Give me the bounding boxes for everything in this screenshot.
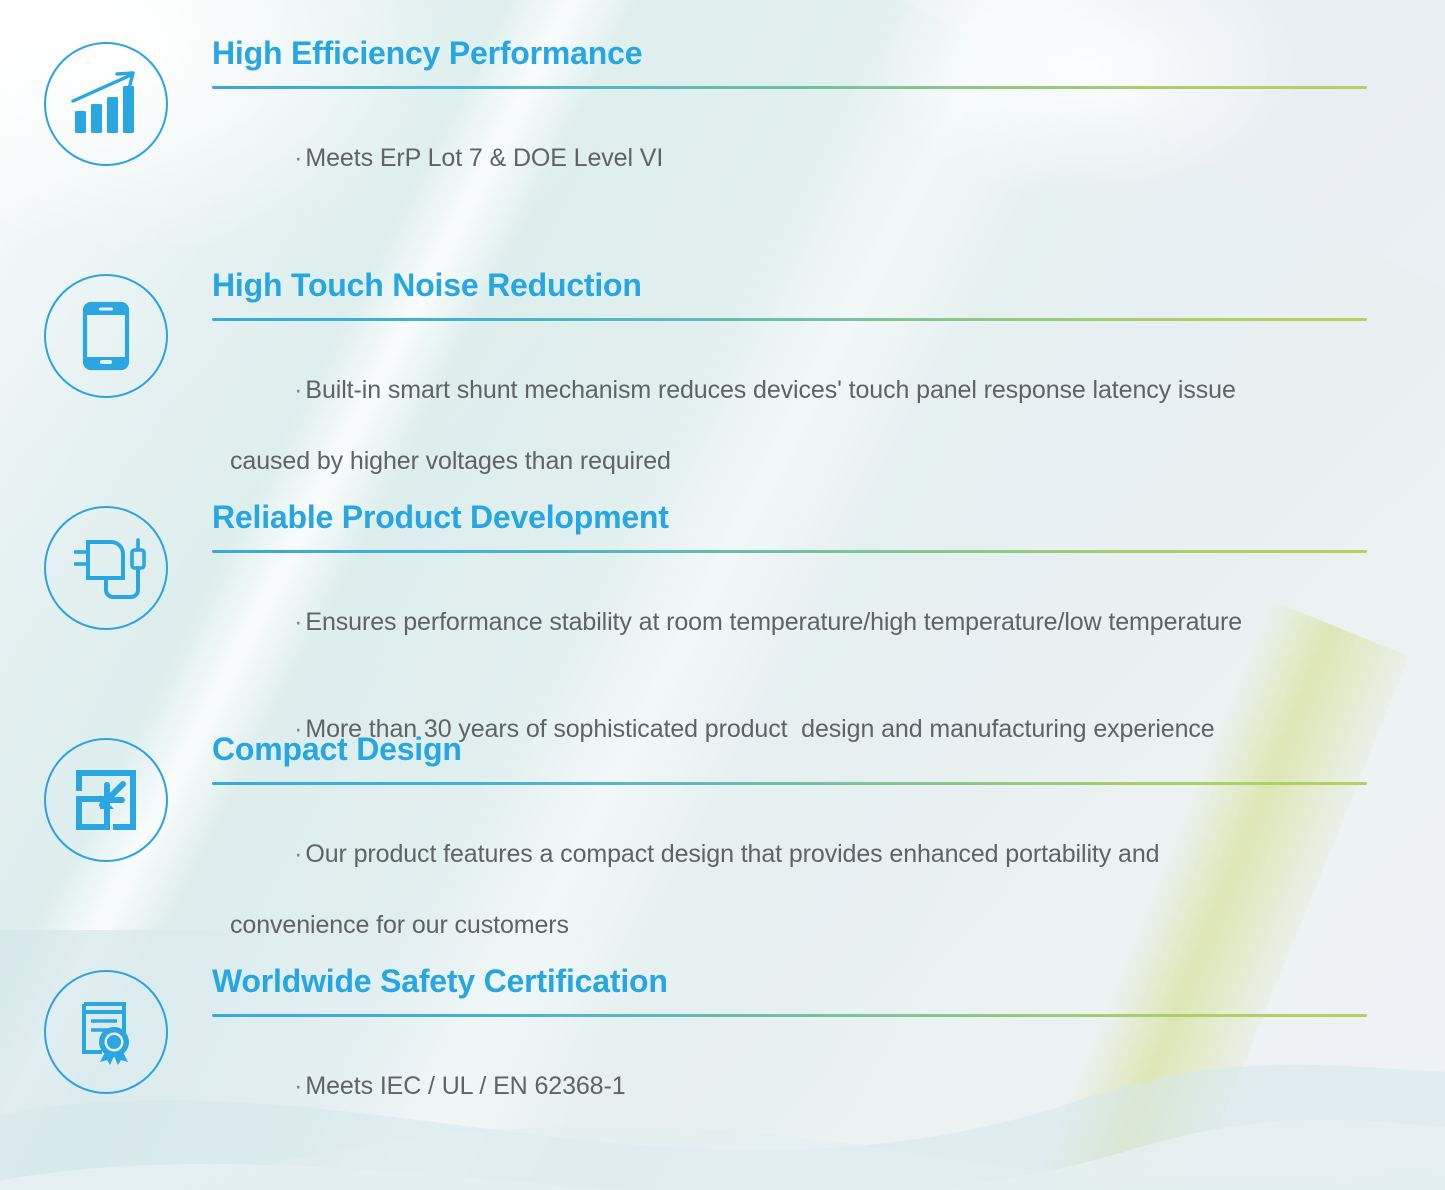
bullet-marker: · <box>294 144 302 172</box>
bullet-text-continued: convenience for our customers <box>212 908 1367 944</box>
feature-divider <box>212 782 1367 785</box>
bullet-marker: · <box>294 376 302 404</box>
bullet-text: Our product features a compact design th… <box>305 840 1159 868</box>
feature-title: Worldwide Safety Certification <box>212 964 1367 1000</box>
bullet-item: ·Ensures performance stability at room t… <box>212 569 1367 676</box>
feature-icon-cell <box>0 34 212 166</box>
compact-resize-icon <box>44 738 168 862</box>
bullet-item: ·Meets IEC / UL / EN 62368-1 <box>212 1033 1367 1140</box>
feature-bullets: ·Meets IEC / UL / EN 62368-1 <box>212 1033 1367 1140</box>
bullet-text: Built-in smart shunt mechanism reduces d… <box>305 376 1235 404</box>
feature-icon-cell <box>0 962 212 1094</box>
power-adapter-icon <box>44 506 168 630</box>
feature-text-cell: High Efficiency Performance ·Meets ErP L… <box>212 34 1445 212</box>
bullet-marker: · <box>294 608 302 636</box>
bullet-marker: · <box>294 1072 302 1100</box>
bullet-text: Meets IEC / UL / EN 62368-1 <box>305 1072 625 1100</box>
feature-icon-cell <box>0 730 212 862</box>
feature-title: Reliable Product Development <box>212 500 1367 536</box>
feature-row: High Efficiency Performance ·Meets ErP L… <box>0 34 1445 266</box>
feature-divider <box>212 1014 1367 1017</box>
feature-title: Compact Design <box>212 732 1367 768</box>
feature-divider <box>212 318 1367 321</box>
feature-bullets: ·Meets ErP Lot 7 & DOE Level VI <box>212 105 1367 212</box>
feature-title: High Touch Noise Reduction <box>212 268 1367 304</box>
bullet-text: Meets ErP Lot 7 & DOE Level VI <box>305 144 663 172</box>
bar-chart-growth-icon <box>44 42 168 166</box>
feature-row: Reliable Product Development ·Ensures pe… <box>0 498 1445 730</box>
feature-row: High Touch Noise Reduction ·Built-in sma… <box>0 266 1445 498</box>
feature-icon-cell <box>0 498 212 630</box>
bullet-text: Ensures performance stability at room te… <box>305 608 1242 636</box>
bullet-text-continued: caused by higher voltages than required <box>212 444 1367 480</box>
certificate-award-icon <box>44 970 168 1094</box>
feature-title: High Efficiency Performance <box>212 36 1367 72</box>
feature-icon-cell <box>0 266 212 398</box>
feature-text-cell: Worldwide Safety Certification ·Meets IE… <box>212 962 1445 1140</box>
feature-row: Worldwide Safety Certification ·Meets IE… <box>0 962 1445 1142</box>
smartphone-icon <box>44 274 168 398</box>
feature-row: Compact Design ·Our product features a c… <box>0 730 1445 962</box>
bullet-item: ·Meets ErP Lot 7 & DOE Level VI <box>212 105 1367 212</box>
bullet-marker: · <box>294 840 302 868</box>
feature-highlights-page: High Efficiency Performance ·Meets ErP L… <box>0 0 1445 1190</box>
feature-divider <box>212 550 1367 553</box>
feature-list: High Efficiency Performance ·Meets ErP L… <box>0 0 1445 1142</box>
feature-divider <box>212 86 1367 89</box>
